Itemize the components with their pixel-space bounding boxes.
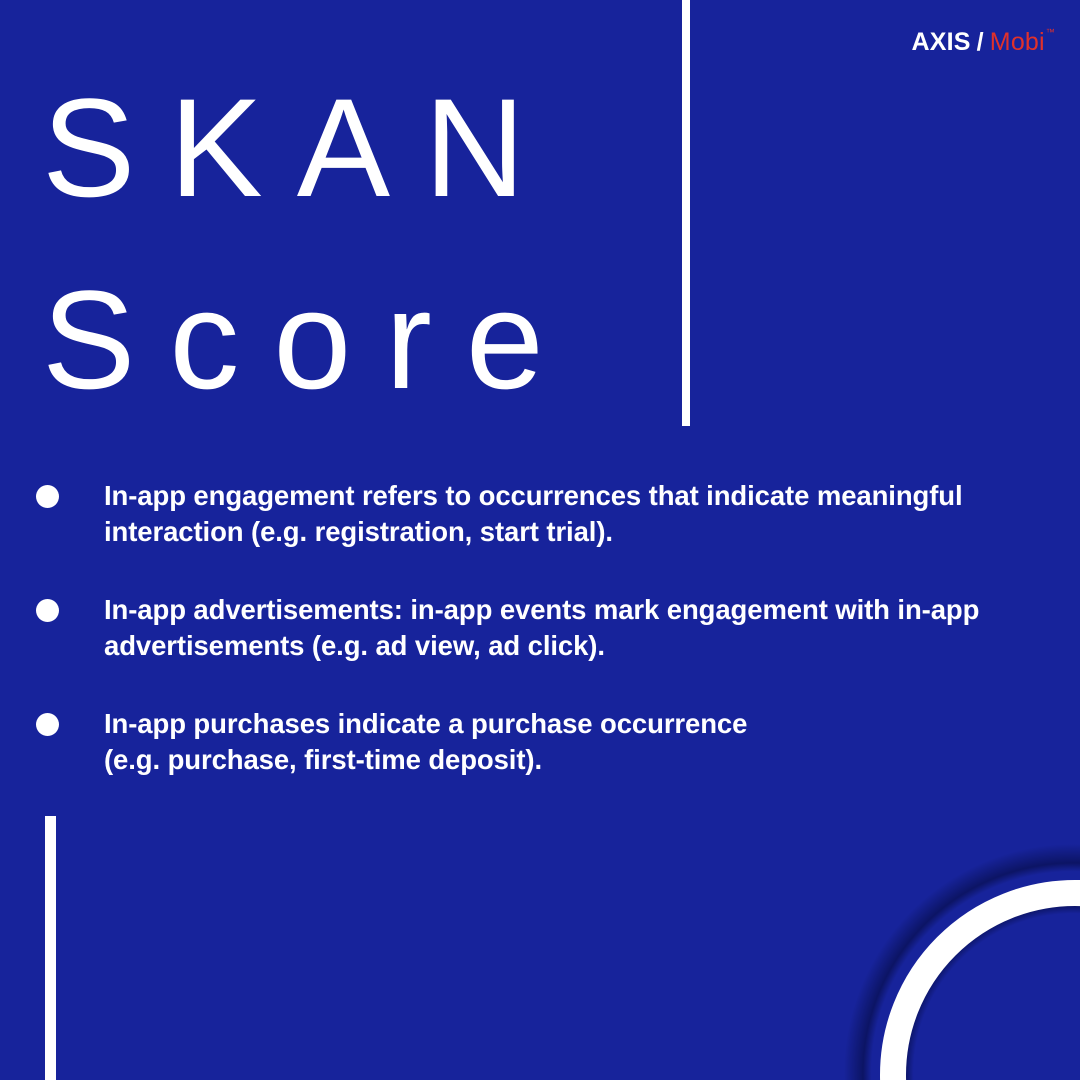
page-title-line-1: SKAN [42,78,578,218]
list-item-text: In-app purchases indicate a purchase occ… [104,706,1056,778]
brand-name-mobi: Mobi [990,30,1045,55]
trademark-icon: ™ [1046,28,1055,37]
list-item: In-app advertisements: in-app events mar… [36,592,1056,664]
brand-separator: / [971,30,990,55]
page-title-line-2: Score [42,270,578,410]
decorative-arc-ring-white [880,880,1080,1080]
list-item: In-app engagement refers to occurrences … [36,478,1056,550]
decorative-arc-shadow-outer [773,773,1080,1080]
page-title: SKAN Score [42,78,578,410]
brand-name-axis: AXIS [911,30,970,55]
bullet-dot-icon [36,713,59,736]
list-item-text: In-app advertisements: in-app events mar… [104,592,1056,664]
footer-vertical-rule [45,816,56,1080]
list-item: In-app purchases indicate a purchase occ… [36,706,1056,778]
headline-vertical-rule [682,0,690,426]
bullet-list: In-app engagement refers to occurrences … [36,478,1056,778]
brand-logo: AXIS / Mobi ™ [911,30,1054,55]
bullet-dot-icon [36,485,59,508]
slide-canvas: AXIS / Mobi ™ SKAN Score In-app engageme… [0,0,1080,1080]
list-item-text: In-app engagement refers to occurrences … [104,478,1056,550]
decorative-arc-shadow-inner [828,828,1080,1080]
bullet-dot-icon [36,599,59,622]
